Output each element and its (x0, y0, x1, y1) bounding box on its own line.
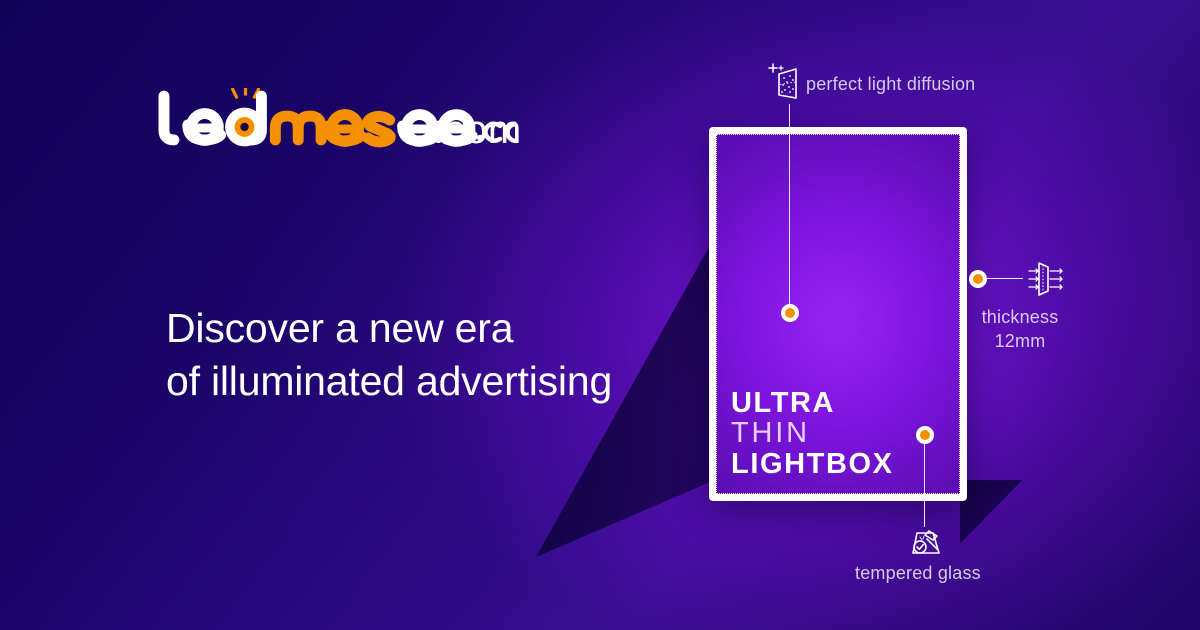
caption-thin: THIN (731, 419, 894, 448)
brand-tld-text: .com (433, 108, 522, 153)
leader-line-tempered-glass (924, 444, 925, 527)
annotation-label-tempered-glass: tempered glass (855, 563, 981, 584)
logo-letter-e (186, 114, 226, 141)
lightbox-product: ULTRA THIN LIGHTBOX (709, 127, 967, 501)
caption-lightbox: LIGHTBOX (731, 450, 894, 479)
leader-line-diffusion (789, 104, 790, 308)
marker-dot-diffusion[interactable] (781, 304, 799, 322)
light-diffusion-panel-icon (768, 63, 802, 103)
logo-letter-m (275, 116, 321, 140)
marker-dot-tempered-glass[interactable] (916, 426, 934, 444)
caption-ultra: ULTRA (731, 389, 894, 418)
logo-eye-iris-icon (231, 88, 262, 141)
promo-banner: .com Discover a new era of illuminated a… (0, 0, 1200, 630)
hammer-glass-check-icon (905, 527, 945, 559)
annotation-label-diffusion: perfect light diffusion (806, 74, 975, 95)
lightbox-caption: ULTRA THIN LIGHTBOX (731, 389, 894, 479)
leader-line-thickness (987, 278, 1023, 279)
logo-letter-l (164, 96, 174, 140)
annotation-label-thickness: thickness 12mm (980, 305, 1060, 354)
marker-dot-thickness[interactable] (969, 270, 987, 288)
headline: Discover a new era of illuminated advert… (166, 302, 706, 409)
panel-thickness-arrows-icon (1026, 258, 1066, 300)
logo-letter-s (368, 116, 390, 141)
logo-letter-e2 (328, 115, 364, 142)
